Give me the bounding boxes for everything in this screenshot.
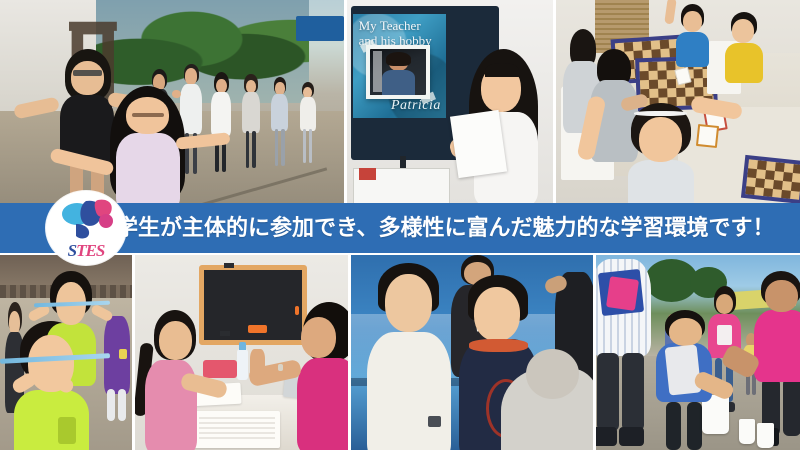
child-yellow-shirt — [722, 12, 766, 82]
photo-outdoor-cup-game — [596, 255, 800, 450]
stes-logo-wordmark: STES — [46, 242, 126, 259]
shop-signboard — [296, 16, 344, 41]
pencil-pouch — [203, 360, 237, 378]
photo-one-on-one-lesson — [135, 255, 352, 450]
workbook-page-lines — [199, 417, 276, 442]
slide-signature: Patricia — [391, 98, 441, 114]
held-paper — [450, 110, 508, 178]
whiteboard-marker — [359, 168, 375, 180]
stes-wordmark-suffix: TES — [76, 241, 104, 260]
board-clip — [220, 331, 230, 336]
scene-straw-relay — [0, 255, 132, 450]
child-jersey-left — [596, 255, 653, 450]
child-arms-raised — [619, 103, 702, 206]
student-child — [141, 310, 205, 450]
scene-aquarium — [351, 255, 593, 450]
slide-title-line-1: My Teacher — [359, 19, 434, 34]
slide-portrait-image — [370, 49, 426, 95]
paper-cup — [757, 423, 773, 448]
boy-white-shirt — [366, 263, 453, 450]
game-board-3 — [741, 155, 800, 204]
photo-straw-game — [0, 255, 135, 450]
scene-classroom-presentation: My Teacher and his hobby — [347, 0, 553, 205]
board-clip — [224, 263, 234, 268]
board-eraser — [248, 325, 267, 333]
scene-outdoor-courtyard — [0, 0, 344, 205]
scene-tutoring-room — [135, 255, 349, 450]
stes-logo: STES — [46, 191, 126, 265]
foreground-student — [103, 86, 192, 205]
photo-students-holding-hands — [0, 0, 347, 205]
teacher-tutor — [293, 302, 352, 450]
photo-board-games — [556, 0, 800, 205]
scene-board-game-room — [556, 0, 800, 205]
bottom-photo-row — [0, 255, 800, 450]
photo-aquarium-visit — [351, 255, 596, 450]
slide-portrait-frame — [366, 45, 430, 99]
photo-student-presentation: My Teacher and his hobby — [347, 0, 556, 205]
paper-cup — [739, 419, 755, 444]
stes-wordmark-prefix: S — [68, 241, 76, 260]
water-bottle — [237, 349, 248, 380]
foreground-head — [526, 349, 579, 400]
top-photo-row: My Teacher and his hobby — [0, 0, 800, 205]
presentation-slide: My Teacher and his hobby — [353, 14, 446, 118]
collage-banner-graphic: My Teacher and his hobby — [0, 0, 800, 450]
headline-text: 学生が主体的に参加でき、多様性に富んだ魅力的な学習環境です！ — [116, 217, 774, 239]
scene-outdoor-game — [596, 255, 800, 450]
child-blue-shirt — [673, 4, 712, 66]
